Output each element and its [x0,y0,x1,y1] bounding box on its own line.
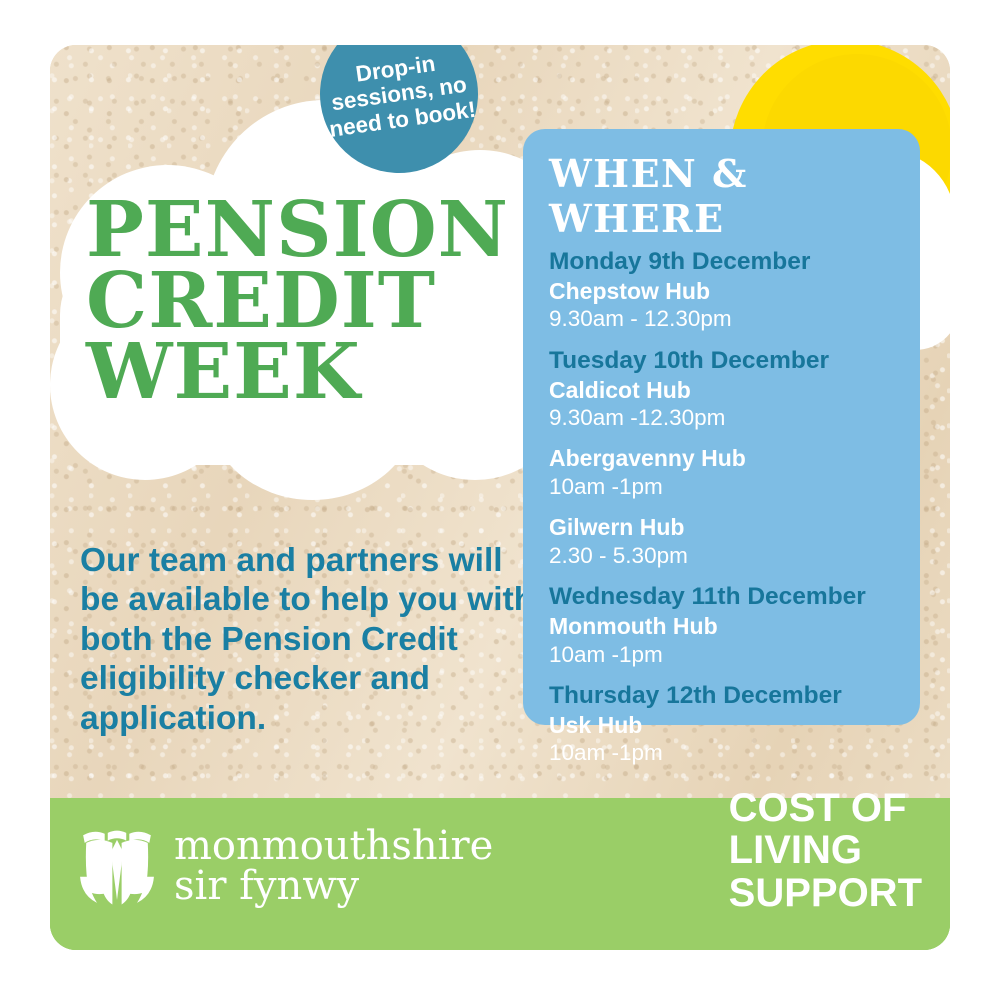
spacer [549,504,902,513]
schedule-date: Tuesday 10th December [549,346,902,376]
logo-line-1: monmouthshire [174,826,493,866]
page-title: PENSION CREDIT WEEK [86,195,516,407]
schedule-place: Monmouth Hub [549,612,902,641]
spacer [549,337,902,346]
schedule-place: Usk Hub [549,711,902,740]
drop-in-badge-label: Drop-in sessions, no need to book! [315,45,482,143]
shield-castle-icon [78,826,156,906]
title-line-3: WEEK [86,337,516,408]
monmouthshire-logo: monmouthshire sir fynwy [78,826,493,906]
schedule-place: Caldicot Hub [549,376,902,405]
logo-wordmark: monmouthshire sir fynwy [174,826,493,906]
schedule-date: Monday 9th December [549,247,902,277]
schedule-time: 9.30am -12.30pm [549,404,902,432]
schedule-item: Thursday 12th December Usk Hub 10am -1pm [549,681,902,768]
schedule-item: Monday 9th December Chepstow Hub 9.30am … [549,247,902,334]
schedule-time: 10am -1pm [549,739,902,767]
when-and-where-panel: WHEN & WHERE Monday 9th December Chepsto… [523,129,920,725]
logo-line-2: sir fynwy [174,866,493,906]
schedule-place: Abergavenny Hub [549,444,902,473]
poster-root: PENSION CREDIT WEEK Our team and partner… [0,0,1000,1000]
schedule-item: Gilwern Hub 2.30 - 5.30pm [549,513,902,570]
schedule-time: 10am -1pm [549,473,902,501]
schedule-time: 9.30am - 12.30pm [549,305,902,333]
schedule-place: Chepstow Hub [549,277,902,306]
schedule-time: 10am -1pm [549,641,902,669]
schedule-item: Wednesday 11th December Monmouth Hub 10a… [549,582,902,669]
schedule-date: Thursday 12th December [549,681,902,711]
schedule-list: Monday 9th December Chepstow Hub 9.30am … [523,247,920,768]
schedule-time: 2.30 - 5.30pm [549,542,902,570]
spacer [549,672,902,681]
spacer [549,435,902,444]
campaign-line-1: COST OF [729,787,922,829]
campaign-line-3: SUPPORT [729,872,922,914]
schedule-item: Abergavenny Hub 10am -1pm [549,444,902,501]
poster-card: PENSION CREDIT WEEK Our team and partner… [50,45,950,950]
panel-heading: WHEN & WHERE [523,129,920,247]
schedule-item: Tuesday 10th December Caldicot Hub 9.30a… [549,346,902,433]
cost-of-living-support-label: COST OF LIVING SUPPORT [729,787,922,914]
schedule-date: Wednesday 11th December [549,582,902,612]
schedule-place: Gilwern Hub [549,513,902,542]
campaign-line-2: LIVING [729,829,922,871]
spacer [549,573,902,582]
